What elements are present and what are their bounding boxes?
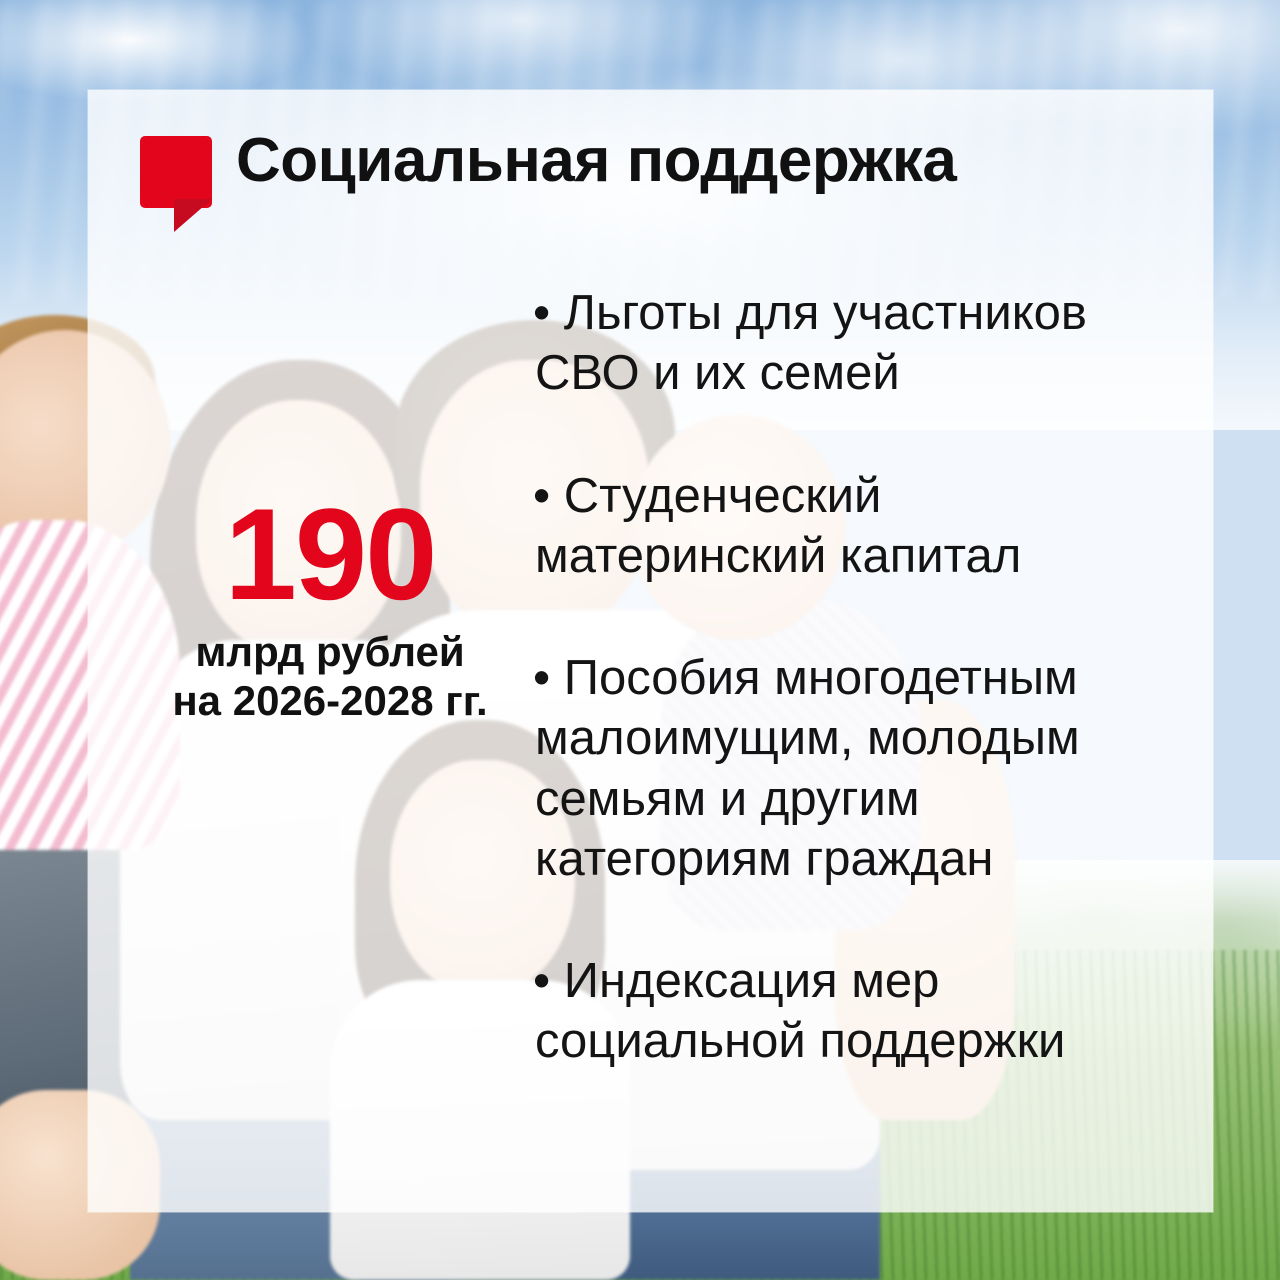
bullet-text: Пособия многодетным малоимущим, молодым … — [535, 651, 1080, 886]
speech-bubble-tail — [174, 199, 212, 232]
stat-unit: млрд рублей — [150, 627, 510, 677]
bullet-list: • Льготы для участников СВО и их семей •… — [535, 283, 1175, 1072]
stat-number: 190 — [150, 495, 510, 615]
stat-block: 190 млрд рублей на 2026-2028 гг. — [150, 495, 510, 726]
page-title: Социальная поддержка — [236, 130, 956, 192]
bullet-marker: • — [533, 651, 550, 705]
bullet-text: Студенческий материнский капитал — [535, 469, 1021, 583]
bullet-text: Индексация мер социальной поддержки — [535, 954, 1065, 1068]
list-item: • Студенческий материнский капитал — [535, 466, 1175, 587]
speech-bubble-body — [140, 136, 212, 208]
stat-period: на 2026-2028 гг. — [150, 676, 510, 726]
bullet-marker: • — [533, 954, 550, 1008]
bullet-marker: • — [533, 469, 550, 523]
list-item: • Индексация мер социальной поддержки — [535, 951, 1175, 1072]
infographic-poster: Социальная поддержка 190 млрд рублей на … — [0, 0, 1280, 1280]
list-item: • Льготы для участников СВО и их семей — [535, 283, 1175, 404]
bullet-text: Льготы для участников СВО и их семей — [535, 286, 1087, 400]
bullet-marker: • — [533, 286, 550, 340]
speech-bubble-icon — [140, 136, 212, 221]
poster-header: Социальная поддержка — [140, 130, 956, 221]
list-item: • Пособия многодетным малоимущим, молоды… — [535, 648, 1175, 889]
